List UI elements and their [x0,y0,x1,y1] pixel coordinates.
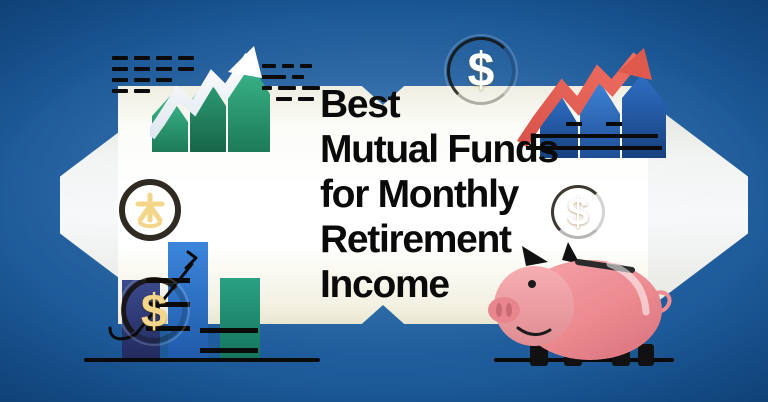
dollar-icon: $ [118,274,190,346]
coin-bottom-dollar: $ [118,274,190,346]
dollar-icon: $ [548,182,608,242]
emblem-icon [116,176,184,244]
thumbnail-canvas: $ $ $ [0,0,768,402]
dash-block-left [112,56,194,100]
coin-left-emblem [116,176,184,244]
dash-block-right [262,64,320,108]
coin-top-dollar: $ [444,34,518,108]
dollar-icon: $ [444,34,518,108]
coin-right-dollar: $ [548,182,608,242]
piggy-bank-icon [482,240,682,380]
baseline-left [84,358,320,362]
